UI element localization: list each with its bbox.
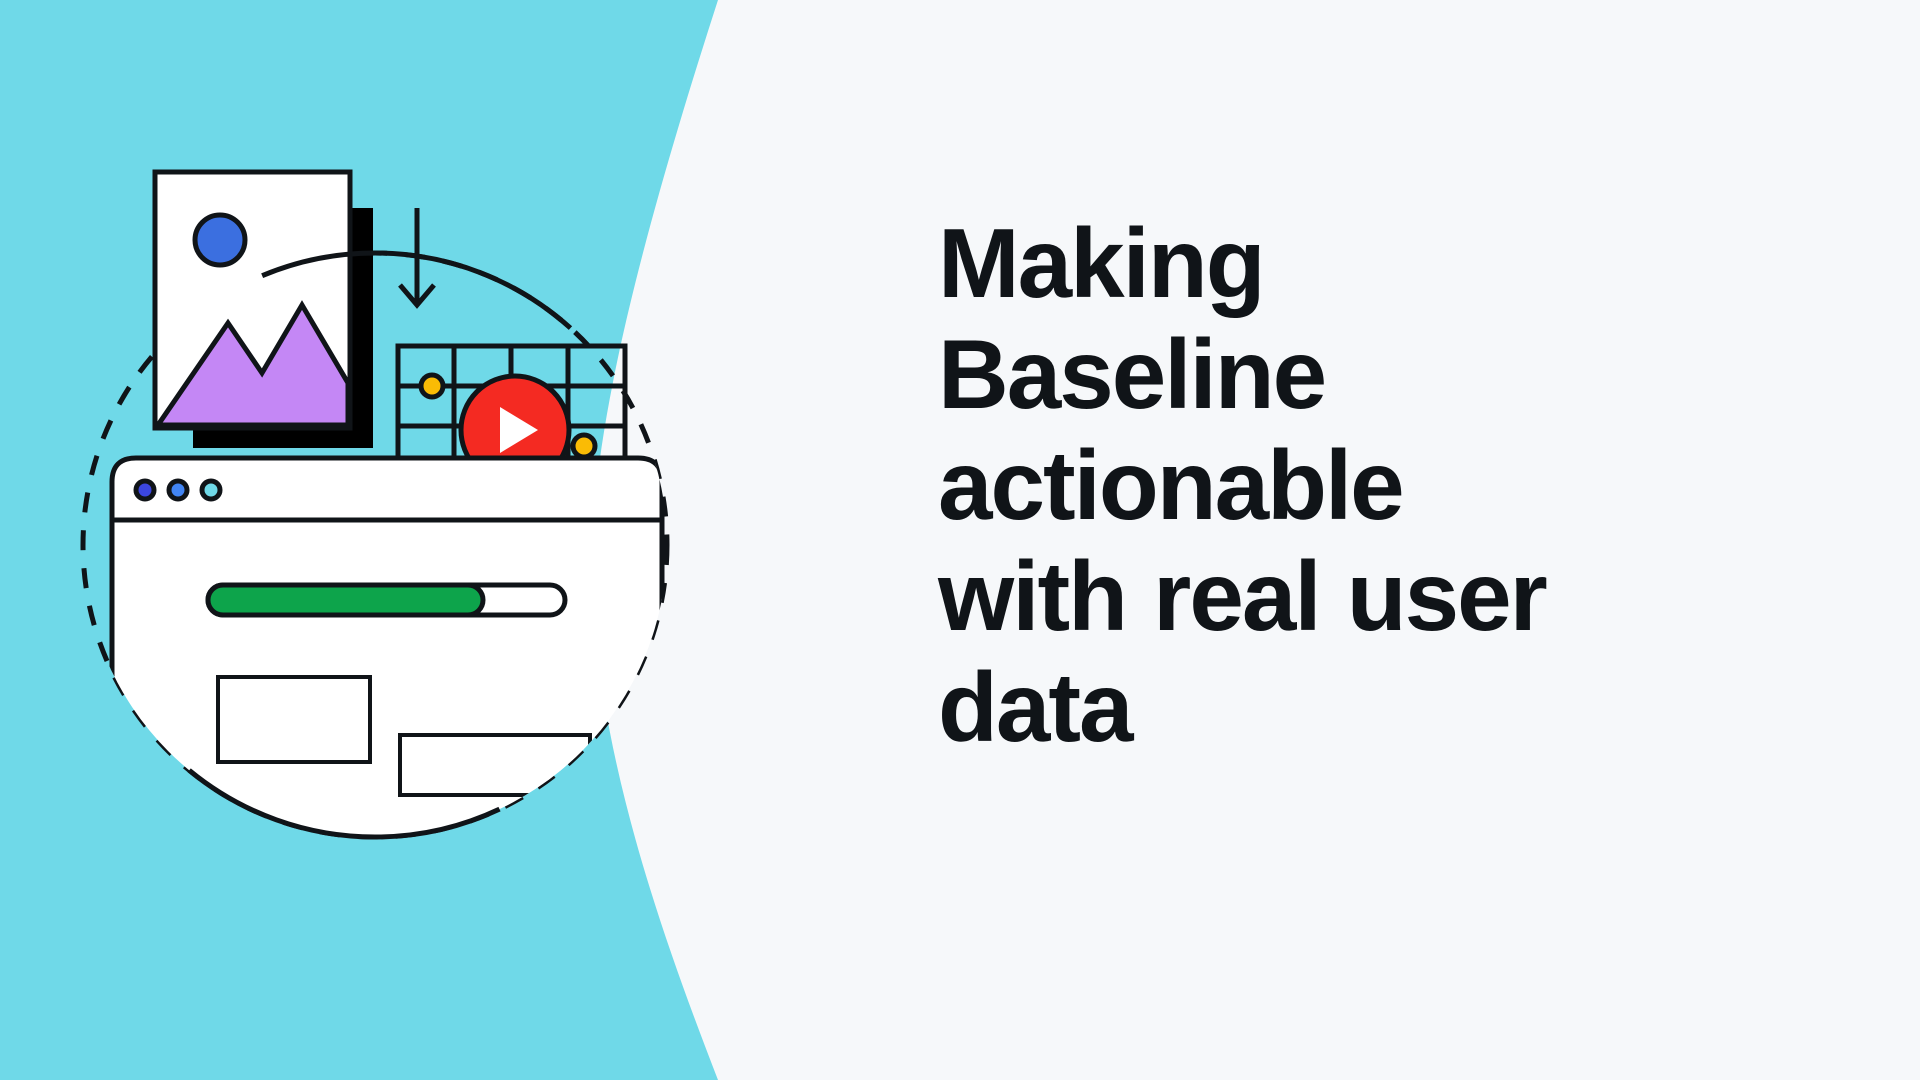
progress-fill xyxy=(208,585,483,615)
window-dot-dark-blue-icon[interactable] xyxy=(136,481,154,499)
browser-window xyxy=(112,458,662,930)
page-load-progress-bar xyxy=(208,585,565,615)
sun-circle-icon xyxy=(195,215,245,265)
headline-line-5: data xyxy=(938,652,1798,763)
window-dot-blue-icon[interactable] xyxy=(169,481,187,499)
content-block xyxy=(400,735,590,795)
image-placeholder-card xyxy=(155,172,373,448)
grid-node-icon xyxy=(421,375,443,397)
headline-block: Making Baseline actionable with real use… xyxy=(938,208,1798,763)
headline-line-1: Making xyxy=(938,208,1798,319)
headline-line-2: Baseline xyxy=(938,319,1798,430)
content-block xyxy=(218,677,370,762)
browser-window-surface xyxy=(112,458,662,930)
grid-node-icon xyxy=(573,435,595,457)
illustration xyxy=(80,130,800,920)
headline-line-4: with real user xyxy=(938,541,1798,652)
page-title: Making Baseline actionable with real use… xyxy=(938,208,1798,763)
headline-line-3: actionable xyxy=(938,430,1798,541)
hero-banner: Making Baseline actionable with real use… xyxy=(0,0,1920,1080)
window-dot-light-blue-icon[interactable] xyxy=(202,481,220,499)
